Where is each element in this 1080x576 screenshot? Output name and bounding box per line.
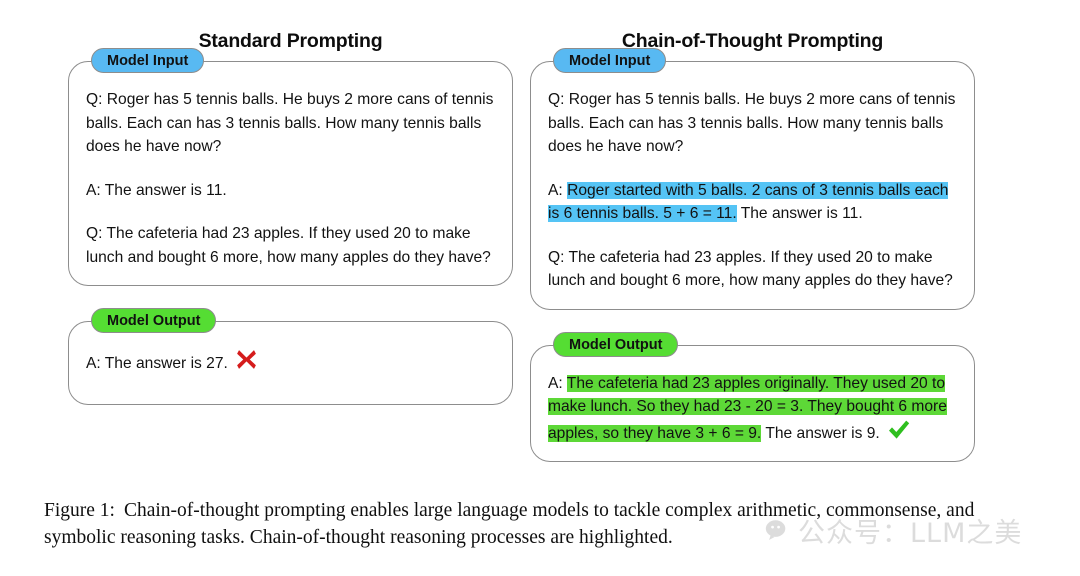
standard-input-text: Q: Roger has 5 tennis balls. He buys 2 m… <box>86 88 495 269</box>
figure-caption-label: Figure 1: <box>44 500 115 521</box>
answer-suffix: The answer is 11. <box>737 205 863 222</box>
check-mark-icon <box>887 419 911 441</box>
model-output-badge: Model Output <box>91 308 216 333</box>
standard-output-text: A: The answer is 27. <box>86 348 495 376</box>
cot-reasoning-paragraph: A: Roger started with 5 balls. 2 cans of… <box>548 179 957 226</box>
figure-caption: Figure 1:Chain-of-thought prompting enab… <box>44 497 1040 551</box>
output-answer-text: A: The answer is 27. <box>86 355 228 372</box>
standard-model-input-card: Model Input Q: Roger has 5 tennis balls.… <box>68 61 513 286</box>
figure-caption-text: Chain-of-thought prompting enables large… <box>44 500 974 548</box>
answer-suffix: The answer is 9. <box>761 425 879 442</box>
answer-prefix: A: <box>548 182 567 199</box>
answer-prefix: A: <box>548 375 567 392</box>
input-paragraph: Q: The cafeteria had 23 apples. If they … <box>86 222 495 269</box>
output-answer-line: A: The answer is 27. <box>86 348 495 376</box>
cot-model-input-card: Model Input Q: Roger has 5 tennis balls.… <box>530 61 975 310</box>
input-paragraph: Q: Roger has 5 tennis balls. He buys 2 m… <box>548 88 957 159</box>
model-input-badge: Model Input <box>91 48 204 73</box>
chain-of-thought-column: Chain-of-Thought Prompting Model Input Q… <box>530 30 975 462</box>
standard-model-output-card: Model Output A: The answer is 27. <box>68 321 513 405</box>
model-output-badge: Model Output <box>553 332 678 357</box>
model-input-badge: Model Input <box>553 48 666 73</box>
input-paragraph: Q: Roger has 5 tennis balls. He buys 2 m… <box>86 88 495 159</box>
cot-input-text: Q: Roger has 5 tennis balls. He buys 2 m… <box>548 88 957 293</box>
cross-mark-icon <box>235 348 258 371</box>
cot-model-output-card: Model Output A: The cafeteria had 23 app… <box>530 345 975 463</box>
input-paragraph: A: The answer is 11. <box>86 179 495 203</box>
cot-output-text: A: The cafeteria had 23 apples originall… <box>548 372 957 446</box>
figure-panel: Standard Prompting Model Input Q: Roger … <box>0 0 1080 490</box>
output-answer-line: A: The cafeteria had 23 apples originall… <box>548 372 957 446</box>
input-paragraph: Q: The cafeteria had 23 apples. If they … <box>548 246 957 293</box>
standard-prompting-column: Standard Prompting Model Input Q: Roger … <box>68 30 513 405</box>
